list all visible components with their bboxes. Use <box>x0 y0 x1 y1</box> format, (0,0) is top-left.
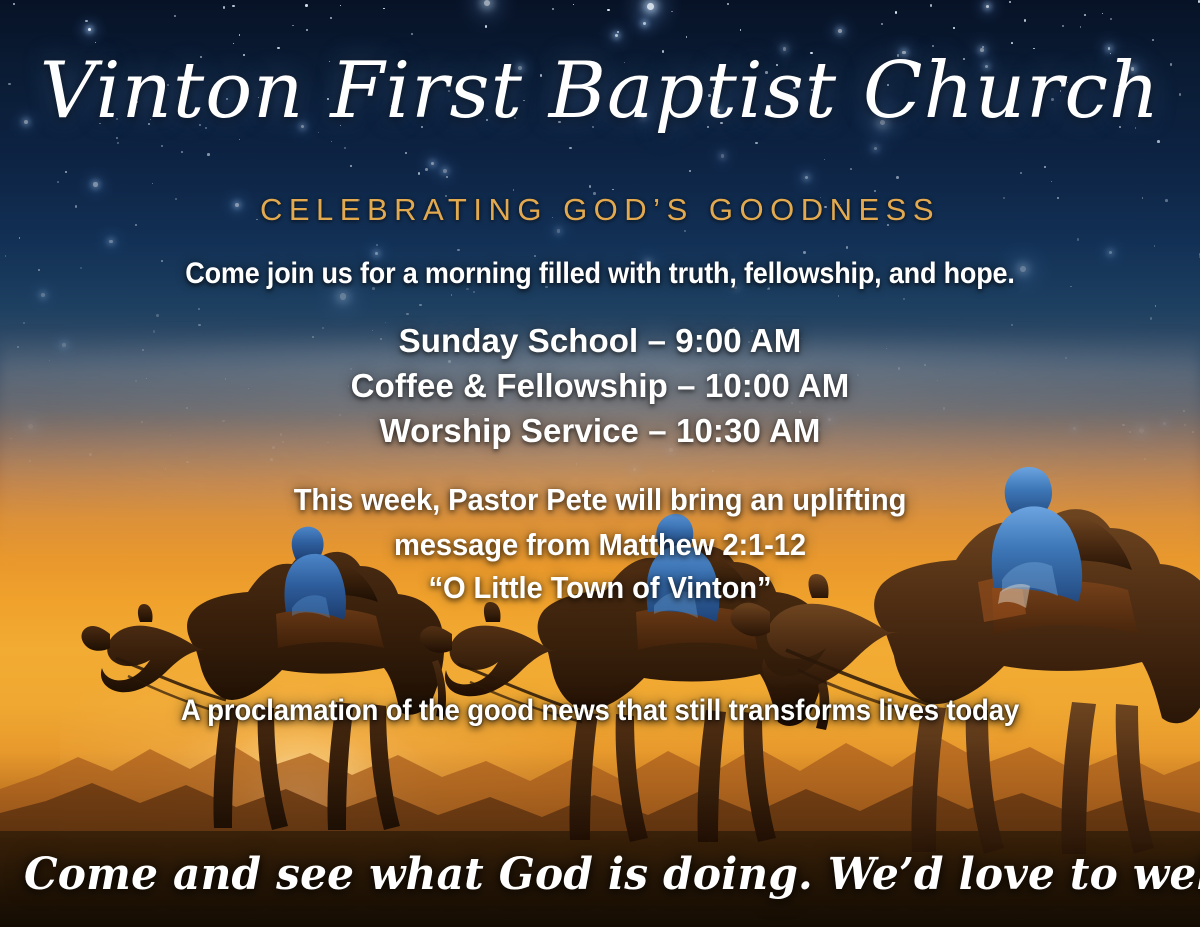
page-title: Vinton First Baptist Church <box>0 46 1200 136</box>
schedule-item-worship-service: Worship Service – 10:30 AM <box>0 412 1200 450</box>
invitation-text: Come join us for a morning filled with t… <box>60 257 1140 291</box>
schedule-item-coffee-fellowship: Coffee & Fellowship – 10:00 AM <box>0 367 1200 405</box>
proclamation-text: A proclamation of the good news that sti… <box>48 694 1152 728</box>
tagline: CELEBRATING GOD’S GOODNESS <box>0 192 1200 228</box>
closing-invitation: Come and see what God is doing. We’d lov… <box>24 849 1176 900</box>
sermon-line-scripture: message from Matthew 2:1-12 <box>36 527 1164 563</box>
poster-text-layer: Vinton First Baptist Church CELEBRATING … <box>0 0 1200 927</box>
sermon-line-pastor: This week, Pastor Pete will bring an upl… <box>36 482 1164 518</box>
poster-canvas: Vinton First Baptist Church CELEBRATING … <box>0 0 1200 927</box>
sermon-line-title: “O Little Town of Vinton” <box>36 570 1164 606</box>
schedule-item-sunday-school: Sunday School – 9:00 AM <box>0 322 1200 360</box>
